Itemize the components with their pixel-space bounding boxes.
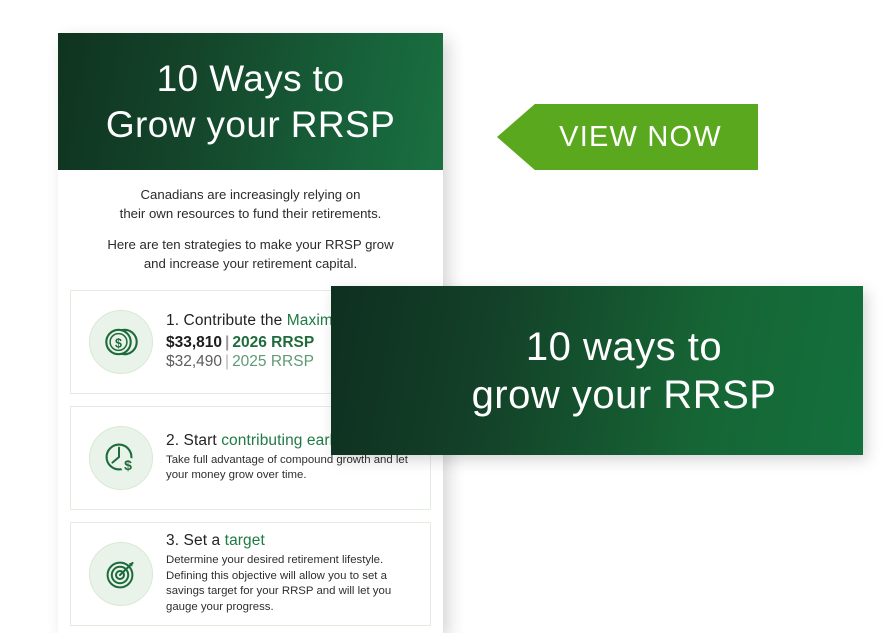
tip-description: Determine your desired retirement lifest…: [166, 553, 420, 615]
tip-title-plain: Set a: [179, 532, 225, 549]
tip-number: 2.: [166, 432, 179, 449]
rrsp-limit-2026-separator: |: [222, 334, 232, 351]
tip-description: Take full advantage of compound growth a…: [166, 453, 420, 484]
rrsp-limit-2025-amount: $32,490: [166, 353, 222, 370]
svg-text:$: $: [124, 457, 132, 473]
tip-number: 3.: [166, 532, 179, 549]
svg-text:$: $: [115, 336, 122, 350]
tip-title-plain: Start: [179, 432, 221, 449]
dollar-coins-icon: $: [89, 310, 153, 374]
target-arrow-icon: [89, 542, 153, 606]
tip-number: 1.: [166, 312, 179, 329]
tip-body: 3. Set a target Determine your desired r…: [166, 532, 420, 615]
intro-paragraph-2: Here are ten strategies to make your RRS…: [88, 236, 413, 273]
rrsp-limit-2025-year: 2025 RRSP: [232, 353, 314, 370]
rrsp-limit-2025-separator: |: [222, 353, 232, 370]
tip-title-highlight: contributing early: [221, 432, 341, 449]
rrsp-limit-2026-amount: $33,810: [166, 334, 222, 351]
tip-title-plain: Contribute the: [179, 312, 287, 329]
promo-panel[interactable]: 10 ways to grow your RRSP: [331, 286, 863, 455]
infographic-header-title: 10 Ways to Grow your RRSP: [106, 56, 395, 147]
rrsp-limit-2026-year: 2026 RRSP: [232, 334, 314, 351]
promo-panel-title: 10 ways to grow your RRSP: [331, 323, 863, 419]
tip-title: 3. Set a target: [166, 532, 420, 550]
intro-paragraph-1: Canadians are increasingly relying on th…: [88, 186, 413, 223]
view-now-button[interactable]: VIEW NOW: [497, 104, 758, 170]
tip-card-set-a-target[interactable]: 3. Set a target Determine your desired r…: [70, 522, 431, 626]
infographic-header-banner: 10 Ways to Grow your RRSP: [58, 33, 443, 170]
view-now-label: VIEW NOW: [559, 121, 722, 154]
infographic-intro-block: Canadians are increasingly relying on th…: [58, 170, 443, 280]
clock-dollar-icon: $: [89, 426, 153, 490]
tip-title-highlight: target: [225, 532, 265, 549]
